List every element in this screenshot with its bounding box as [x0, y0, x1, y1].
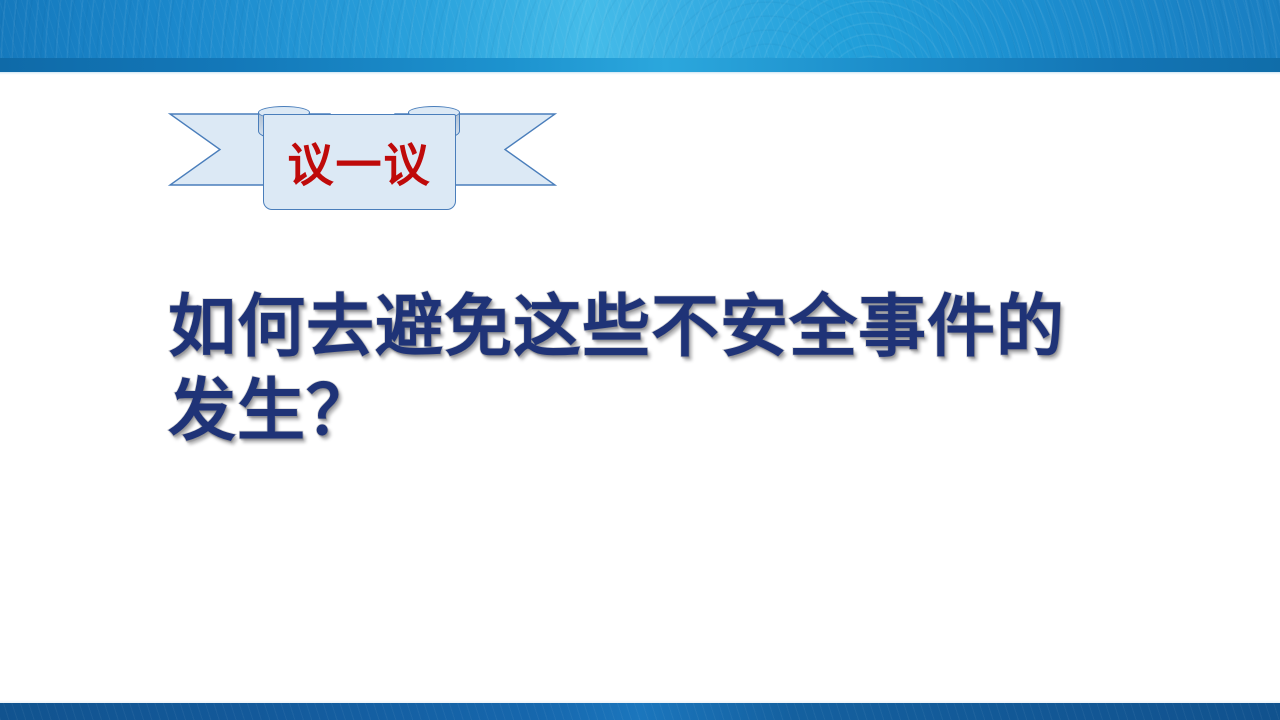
footer-texture [0, 703, 1280, 720]
header-hairline [0, 72, 1280, 75]
ribbon-label: 议一议 [288, 142, 432, 188]
headline-block: 如何去避免这些不安全事件的 发生？ [168, 286, 1148, 454]
ribbon-banner: 议一议 [170, 106, 555, 210]
headline-line-2: 发生？ [168, 370, 1148, 454]
ribbon-center-panel: 议一议 [263, 114, 456, 210]
header-bottom-strip [0, 58, 1280, 72]
slide-canvas: 议一议 如何去避免这些不安全事件的 发生？ [0, 0, 1280, 720]
headline-line-1: 如何去避免这些不安全事件的 [168, 286, 1148, 370]
